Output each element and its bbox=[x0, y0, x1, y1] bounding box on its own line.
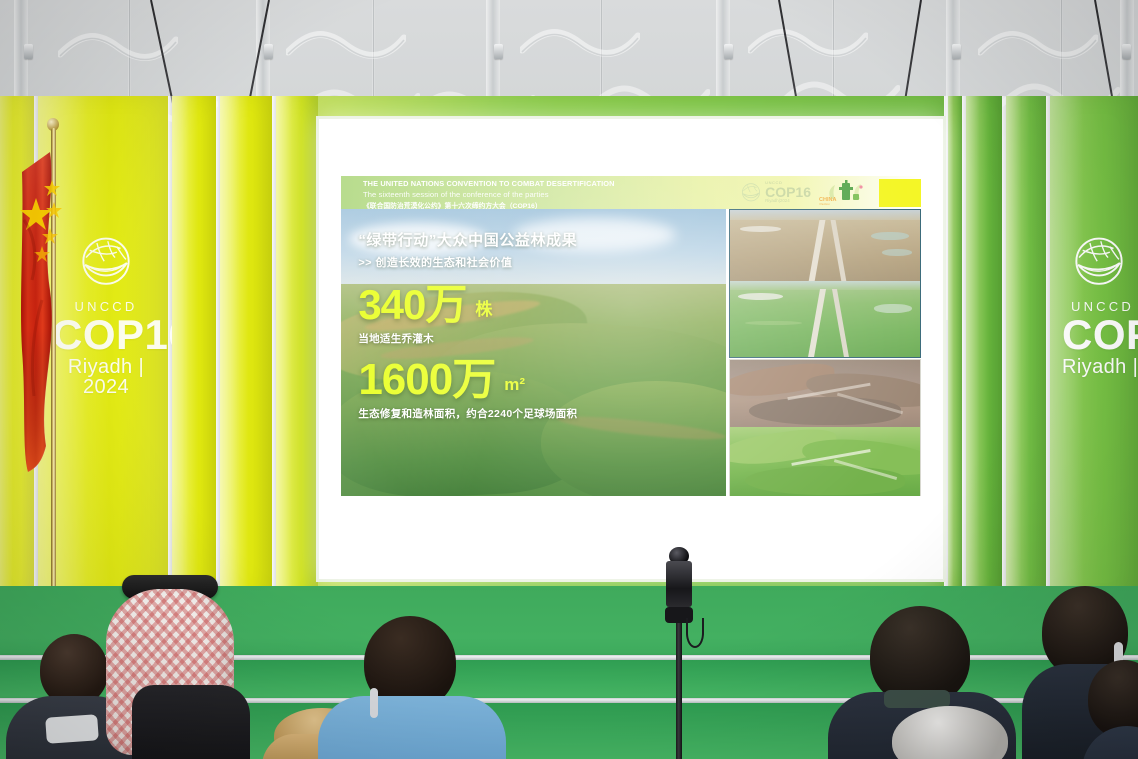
stat-trees-caption: 当地适生乔灌木 bbox=[358, 331, 710, 346]
side-photo-column bbox=[729, 209, 921, 496]
audience-member-blue-shirt bbox=[318, 616, 504, 759]
backdrop-panel-logo-right: UNCCD COP16 Riyadh | 20 bbox=[1050, 96, 1138, 601]
header-line-english-sub: The sixteenth session of the conference … bbox=[363, 190, 615, 199]
slide-header-band: THE UNITED NATIONS CONVENTION TO COMBAT … bbox=[341, 176, 921, 209]
lockup-place-label: Riyadh | 20 bbox=[1062, 357, 1138, 377]
backdrop-panel bbox=[948, 96, 962, 601]
presentation-slide: THE UNITED NATIONS CONVENTION TO COMBAT … bbox=[341, 176, 921, 496]
audience-member-keffiyeh bbox=[92, 575, 258, 759]
aerial-photo-after-plain bbox=[729, 281, 921, 358]
stat-trees-unit: 株 bbox=[475, 295, 492, 325]
thobe-shoulders bbox=[132, 685, 250, 759]
aerial-photo-after-mountain bbox=[729, 427, 921, 496]
china-pavilion-ginkgo-icon: CHINA Pavilion bbox=[818, 179, 872, 206]
slide-yellow-chip bbox=[879, 179, 921, 207]
stat-trees-number: 340万 bbox=[358, 286, 466, 325]
lockup-event-label: COP16 bbox=[1062, 314, 1138, 356]
slide-header-logos: UNCCD COP16 Riyadh|2024 bbox=[740, 176, 921, 209]
backdrop-panel bbox=[276, 96, 318, 601]
header-line-english-main: THE UNITED NATIONS CONVENTION TO COMBAT … bbox=[363, 179, 615, 188]
backdrop-panel bbox=[220, 96, 272, 601]
unccd-globe-leaf-icon bbox=[1070, 234, 1128, 292]
earpiece bbox=[370, 688, 378, 718]
aerial-photo-before-plain bbox=[729, 209, 921, 283]
wave-motif-icon bbox=[286, 28, 406, 62]
wave-motif-icon bbox=[748, 26, 868, 60]
unccd-globe-leaf-icon bbox=[740, 182, 762, 204]
conference-room-photo: UNCCD COP16 Riyadh | 2024 bbox=[0, 0, 1138, 759]
wave-motif-icon bbox=[520, 26, 640, 60]
audience-member-grey-hair bbox=[882, 706, 1018, 759]
stat-area-number: 1600万 bbox=[358, 360, 495, 400]
camera-body bbox=[666, 561, 692, 607]
aerial-photo-before-mountain bbox=[729, 359, 921, 429]
lockup-org-label: UNCCD bbox=[1071, 300, 1138, 313]
backdrop-panel bbox=[966, 96, 1002, 601]
projection-screen[interactable]: THE UNITED NATIONS CONVENTION TO COMBAT … bbox=[319, 119, 943, 579]
china-pavilion-logo: CHINA Pavilion bbox=[818, 179, 872, 206]
hero-landscape-photo: “绿带行动”大众中国公益林成果 >> 创造长效的生态和社会价值 340万 株 当… bbox=[341, 209, 726, 496]
slide-header-text: THE UNITED NATIONS CONVENTION TO COMBAT … bbox=[363, 179, 615, 210]
slide-logo-event: COP16 bbox=[765, 185, 811, 199]
hero-text-overlay: “绿带行动”大众中国公益林成果 >> 创造长效的生态和社会价值 340万 株 当… bbox=[358, 229, 710, 421]
stat-block-area: 1600万 m² bbox=[358, 360, 710, 400]
stat-block-trees: 340万 株 bbox=[358, 286, 710, 325]
backdrop-panel bbox=[172, 96, 216, 601]
slide-title: “绿带行动”大众中国公益林成果 bbox=[358, 229, 710, 250]
stat-area-caption: 生态修复和造林面积，约合2240个足球场面积 bbox=[358, 406, 710, 421]
wave-motif-icon bbox=[978, 28, 1098, 62]
slide-subtitle: >> 创造长效的生态和社会价值 bbox=[358, 254, 710, 270]
slide-unccd-cop16-logo: UNCCD COP16 Riyadh|2024 bbox=[740, 181, 811, 203]
backdrop-panel bbox=[1006, 96, 1046, 601]
audience-member-far-right bbox=[1088, 660, 1138, 759]
stat-area-unit: m² bbox=[504, 375, 525, 400]
monopod-pole bbox=[676, 623, 682, 759]
flag-cloth bbox=[20, 150, 86, 480]
camera-wrist-strap bbox=[686, 618, 704, 648]
svg-text:Pavilion: Pavilion bbox=[820, 202, 831, 206]
unccd-cop16-lockup-right: UNCCD COP16 Riyadh | 20 bbox=[1062, 234, 1138, 377]
